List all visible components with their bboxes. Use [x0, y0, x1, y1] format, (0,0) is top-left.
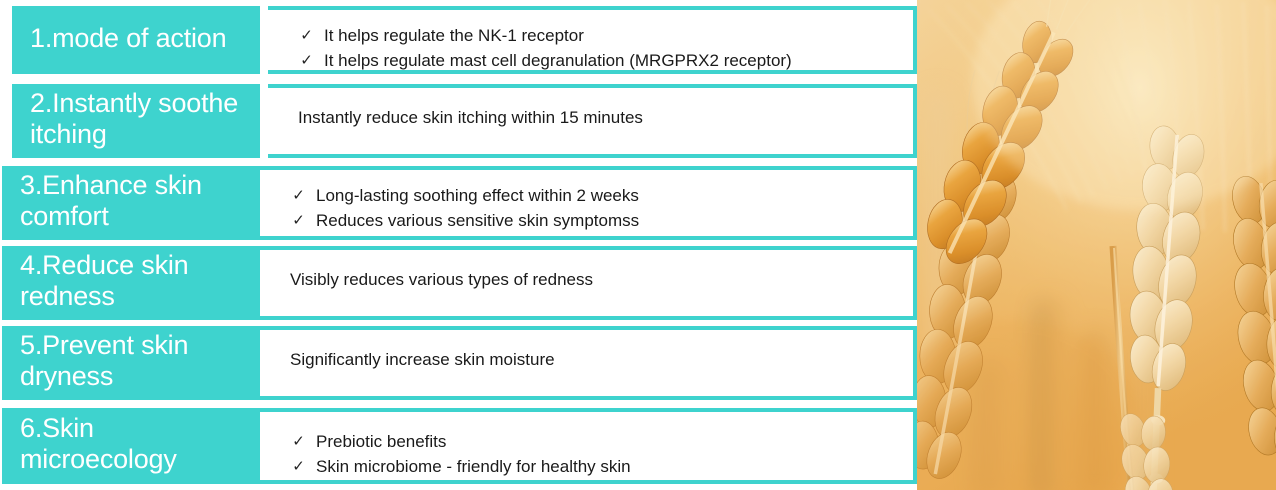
feature-row: 6.Skin microecology ✓ Prebiotic benefits…	[0, 408, 917, 484]
wheat-field-photo	[917, 0, 1276, 490]
feature-label-text: 4.Reduce skin redness	[20, 250, 246, 312]
feature-row: 4.Reduce skin redness Visibly reduces va…	[0, 246, 917, 320]
content-text: Significantly increase skin moisture	[290, 348, 903, 373]
content-bullet: ✓ Skin microbiome - friendly for healthy…	[292, 455, 903, 480]
feature-content-4: Visibly reduces various types of redness	[260, 246, 917, 320]
check-icon: ✓	[292, 430, 305, 453]
feature-label-5: 5.Prevent skin dryness	[2, 326, 260, 400]
content-bullet: ✓ It helps regulate mast cell degranulat…	[300, 49, 903, 74]
feature-label-text: 6.Skin microecology	[20, 413, 246, 475]
check-icon: ✓	[292, 455, 305, 478]
feature-label-text: 3.Enhance skin comfort	[20, 170, 246, 232]
feature-content-2: Instantly reduce skin itching within 15 …	[268, 84, 917, 158]
feature-row: 1.mode of action ✓ It helps regulate the…	[0, 6, 917, 74]
feature-label-text: 5.Prevent skin dryness	[20, 330, 246, 392]
check-icon: ✓	[300, 49, 313, 72]
content-text: Reduces various sensitive skin symptomss	[316, 209, 639, 234]
content-text: Visibly reduces various types of redness	[290, 268, 903, 293]
feature-content-5: Significantly increase skin moisture	[260, 326, 917, 400]
content-text: Long-lasting soothing effect within 2 we…	[316, 184, 639, 209]
feature-row: 2.Instantly soothe itching Instantly red…	[0, 84, 917, 158]
content-text: It helps regulate the NK-1 receptor	[324, 24, 584, 49]
feature-label-1: 1.mode of action	[12, 6, 260, 74]
feature-content-1: ✓ It helps regulate the NK-1 receptor ✓ …	[268, 6, 917, 74]
slide-root: 1.mode of action ✓ It helps regulate the…	[0, 0, 1276, 490]
feature-label-6: 6.Skin microecology	[2, 408, 260, 484]
feature-content-6: ✓ Prebiotic benefits ✓ Skin microbiome -…	[260, 408, 917, 484]
content-bullet: ✓ Prebiotic benefits	[292, 430, 903, 455]
feature-label-text: 2.Instantly soothe itching	[30, 88, 246, 150]
content-text: Instantly reduce skin itching within 15 …	[298, 106, 903, 131]
content-text: It helps regulate mast cell degranulatio…	[324, 49, 792, 74]
feature-label-4: 4.Reduce skin redness	[2, 246, 260, 320]
feature-label-2: 2.Instantly soothe itching	[12, 84, 260, 158]
feature-row: 5.Prevent skin dryness Significantly inc…	[0, 326, 917, 400]
content-text: Skin microbiome - friendly for healthy s…	[316, 455, 631, 480]
content-bullet: ✓ It helps regulate the NK-1 receptor	[300, 24, 903, 49]
check-icon: ✓	[300, 24, 313, 47]
content-bullet: ✓ Long-lasting soothing effect within 2 …	[292, 184, 903, 209]
content-text: Prebiotic benefits	[316, 430, 446, 455]
check-icon: ✓	[292, 209, 305, 232]
feature-label-3: 3.Enhance skin comfort	[2, 166, 260, 240]
check-icon: ✓	[292, 184, 305, 207]
feature-row: 3.Enhance skin comfort ✓ Long-lasting so…	[0, 166, 917, 240]
feature-label-text: 1.mode of action	[30, 23, 226, 54]
content-bullet: ✓ Reduces various sensitive skin symptom…	[292, 209, 903, 234]
feature-list: 1.mode of action ✓ It helps regulate the…	[0, 0, 917, 490]
feature-content-3: ✓ Long-lasting soothing effect within 2 …	[260, 166, 917, 240]
